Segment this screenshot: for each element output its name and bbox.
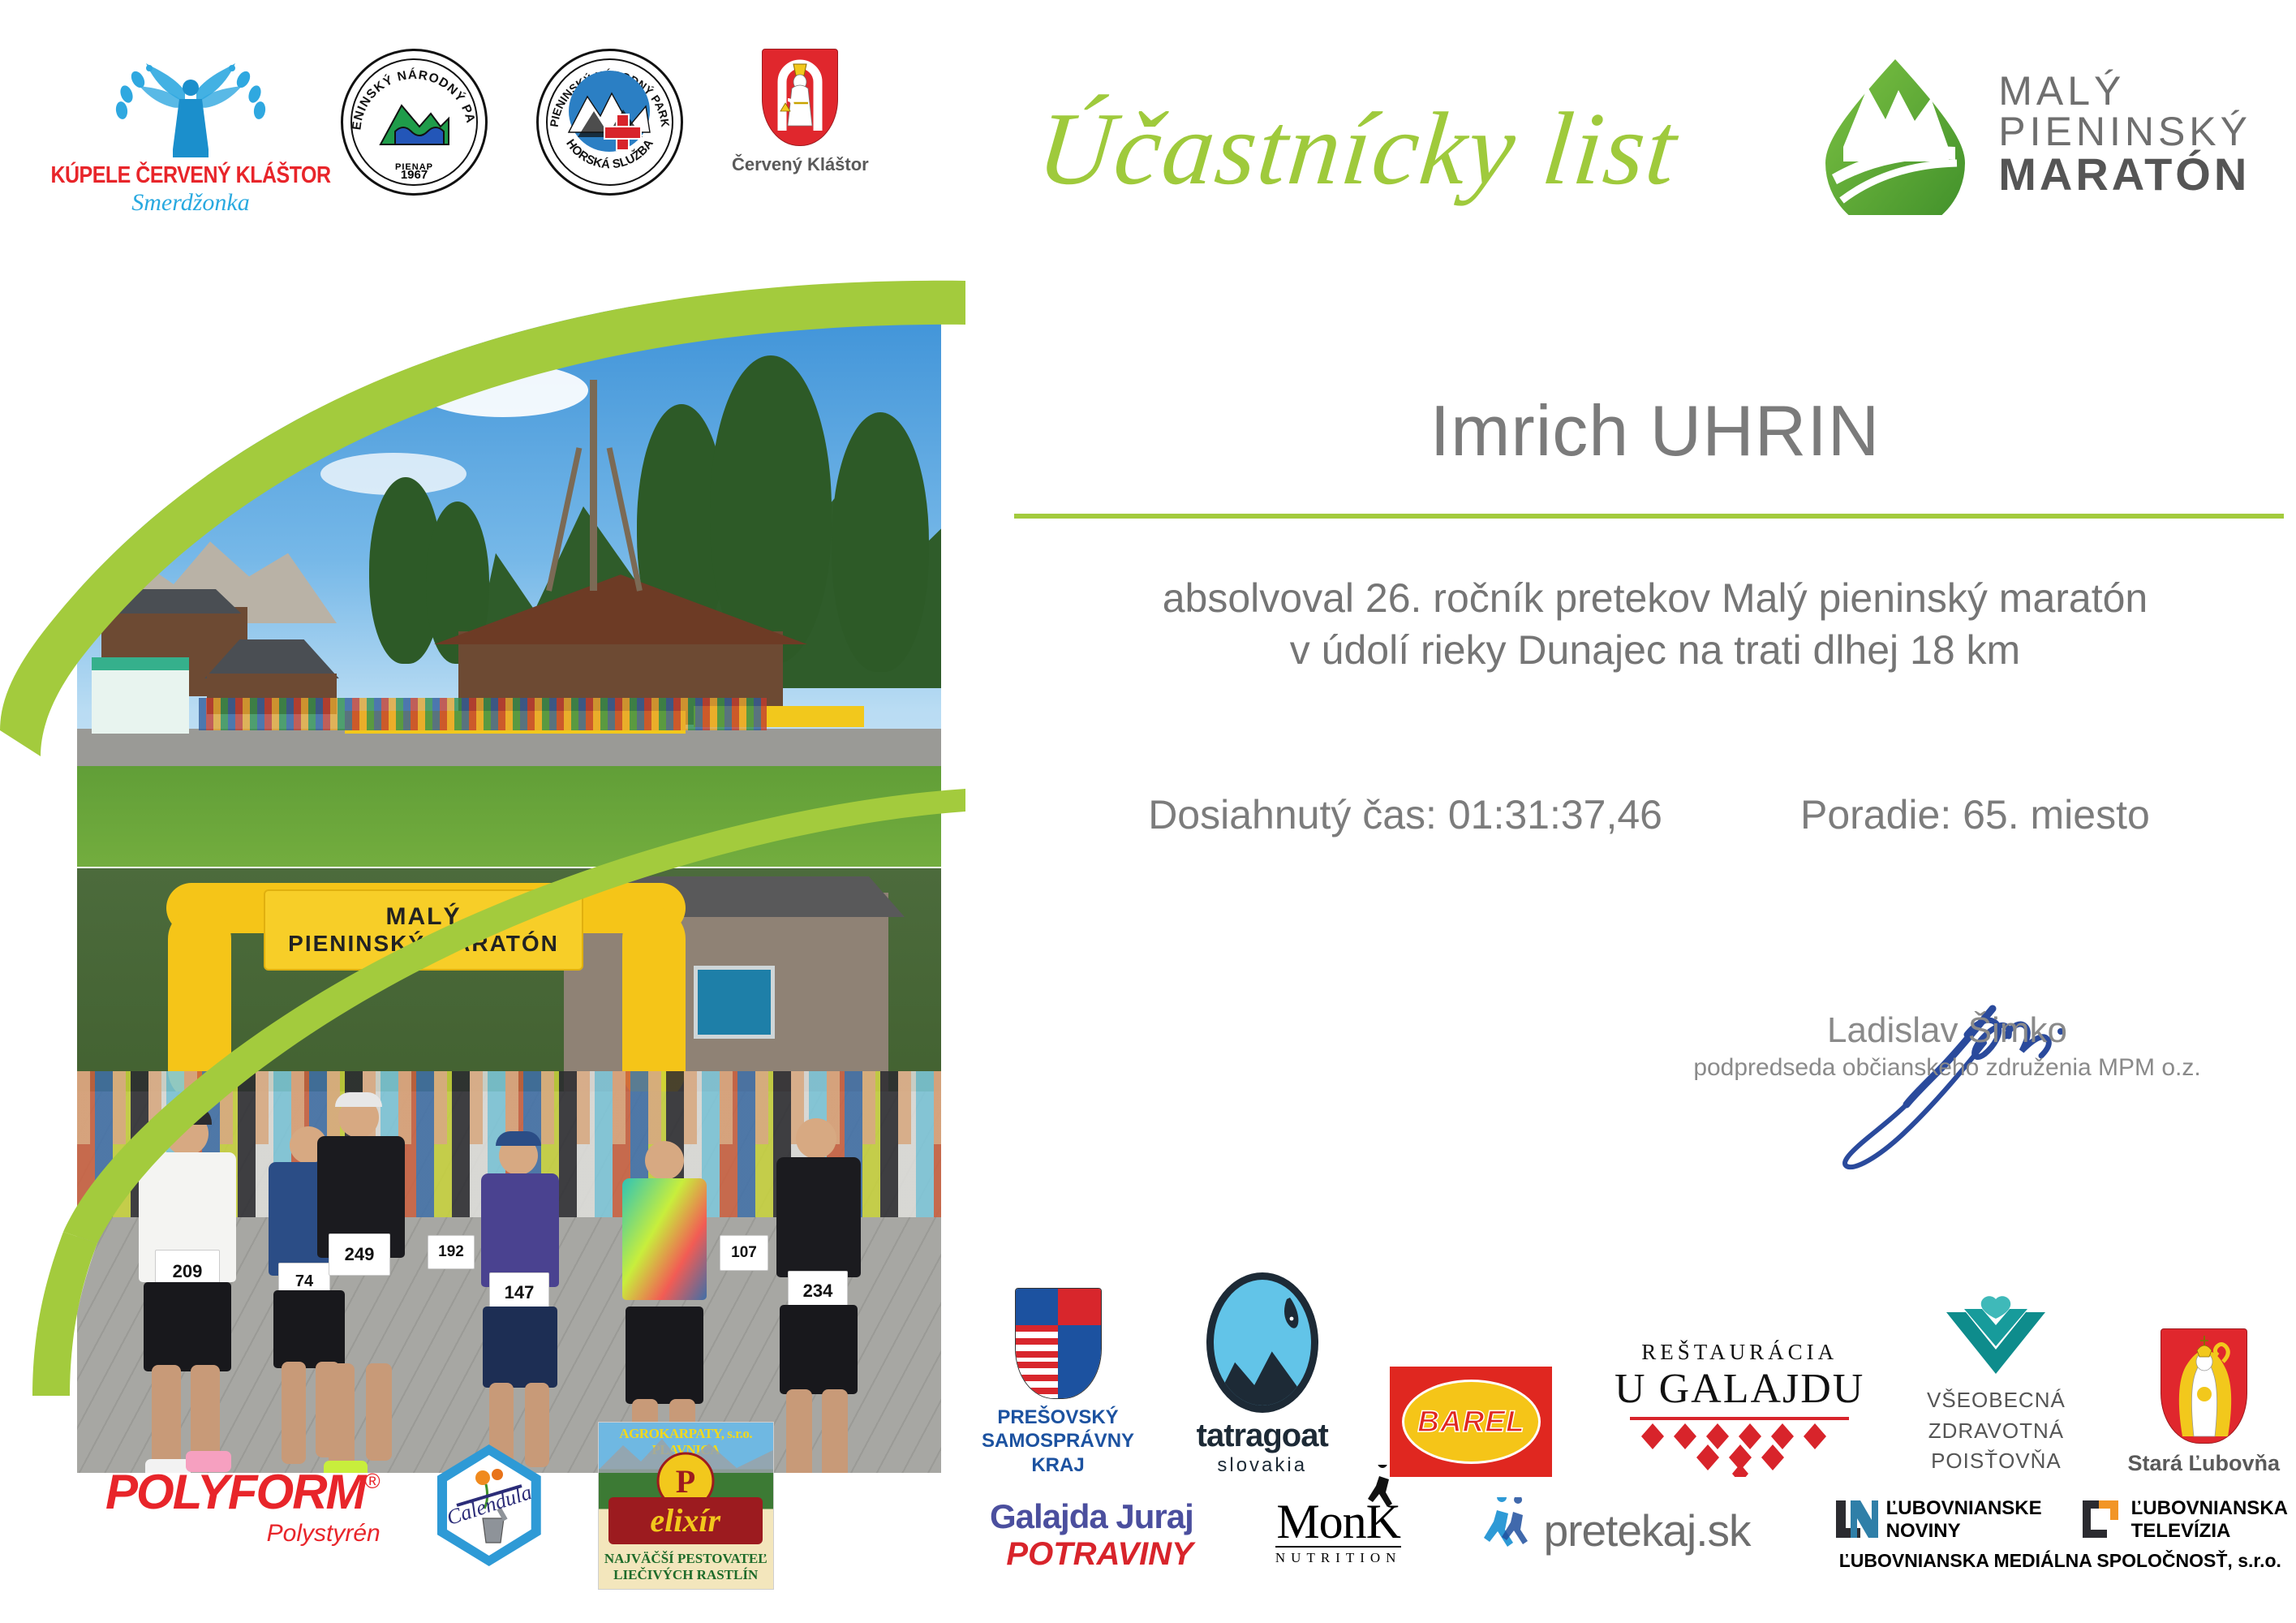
certificate-description: absolvoval 26. ročník pretekov Malý pien… [1047,572,2264,676]
sponsor-monk-nutrition: MonK NUTRITION [1275,1497,1402,1566]
page-title: Účastnícky list [1032,89,1683,209]
barel-name: BAREL [1417,1405,1524,1439]
polyform-sub: Polystyrén [105,1520,381,1548]
logo-kupele-cerveny-klastor: KÚPELE ČERVENÝ KLÁŠTOR Smerdžonka [89,49,292,217]
participant-name: Imrich UHRIN [1047,390,2264,472]
rank-label: Poradie: [1800,792,1951,837]
goat-mountain-oval-icon [1206,1272,1318,1413]
polyform-name: POLYFORM [105,1464,365,1520]
sponsor-calendula: Calendula [437,1444,541,1566]
agrokarpaty-tagline2: LIEČIVÝCH RASTLÍN [599,1567,773,1583]
certificate-page: KÚPELE ČERVENÝ KLÁŠTOR Smerdžonka PIENIN… [0,0,2296,1623]
event-logo-line2: PIENINSKÝ [1998,111,2251,152]
agrokarpaty-brand-band: elixír [608,1497,763,1544]
sponsor-row-2: Galajda Juraj POTRAVINY MonK NUTRITION p… [990,1497,2288,1611]
bishop-coat-of-arms-icon [2161,1328,2247,1444]
monk-sub: NUTRITION [1275,1546,1402,1566]
galajda-line1: Galajda Juraj [990,1497,1193,1536]
runners-icon [1484,1497,1534,1564]
leaf-mountain-icon [1821,53,1971,215]
logo-horska-sluzba: PIENINSKÝ NÁRODNÝ PARK HORSKÁ SLUŽBA [536,49,683,196]
svg-text:PIENINSKÝ NÁRODNÝ PARK: PIENINSKÝ NÁRODNÝ PARK [548,68,673,128]
event-logo: MALÝ PIENINSKÝ MARATÓN [1821,53,2251,215]
agrokarpaty-tagline1: NAJVÄČŠÍ PESTOVATEĽ [599,1551,773,1567]
sponsor-polyform: POLYFORM ® Polystyrén [105,1464,381,1548]
kupele-name: KÚPELE ČERVENÝ KLÁŠTOR [50,162,330,189]
polyform-trademark: ® [365,1469,381,1494]
signer-name: Ladislav Šimko [1639,1010,2255,1051]
finish-time-label: Dosiahnutý čas: [1148,792,1437,837]
u-galajdu-name: U GALAJDU [1615,1365,1864,1413]
psk-line2: SAMOSPRÁVNY [982,1429,1134,1453]
vzp-line1: VŠEOBECNÁ [1927,1385,2066,1416]
sponsor-row-1: PREŠOVSKÝ SAMOSPRÁVNY KRAJ tatragoat slo… [982,1233,2280,1477]
sponsor-vzp: VŠEOBECNÁ ZDRAVOTNÁ POISŤOVŇA [1927,1296,2066,1477]
svg-text:HORSKÁ SLUŽBA: HORSKÁ SLUŽBA [563,137,656,172]
description-line2: v údolí rieky Dunajec na trati dlhej 18 … [1047,624,2264,676]
ltv-logo-icon [2078,1497,2123,1541]
sponsor-pretekaj: pretekaj.sk [1484,1497,1751,1564]
vzp-line2: ZDRAVOTNÁ [1927,1416,2066,1447]
result-stats: Dosiahnutý čas: 01:31:37,46 Poradie: 65.… [1014,791,2284,838]
mortar-flower-hex-icon: Calendula [437,1444,541,1566]
galajda-line2: POTRAVINY [990,1536,1193,1573]
ln-line2: NOVINY [1886,1520,2042,1543]
psk-line3: KRAJ [982,1453,1134,1477]
sponsor-u-galajdu: REŠTAURÁCIA U GALAJDU [1615,1340,1864,1477]
divider-rule [1014,514,2284,519]
finish-time: Dosiahnutý čas: 01:31:37,46 [1148,791,1662,838]
monk-coat-of-arms-icon [762,49,838,146]
lubovnianska-media-footer: ĽUBOVNIANSKA MEDIÁLNA SPOLOČNOSŤ, s.r.o. [1839,1550,2281,1572]
sponsor-galajda-juraj: Galajda Juraj POTRAVINY [990,1497,1193,1573]
description-line1: absolvoval 26. ročník pretekov Malý pien… [1047,572,2264,624]
stara-lubovna-name: Stará Ľubovňa [2127,1450,2280,1477]
water-angel-icon [89,49,292,162]
finish-time-value: 01:31:37,46 [1448,792,1662,837]
cerveny-klastor-caption: Červený Kláštor [732,154,869,175]
rank: Poradie: 65. miesto [1800,791,2150,838]
ln-line1: ĽUBOVNIANSKE [1886,1497,2042,1520]
park-circle-icon: PIENINSKÝ NÁRODNÝ PARK PIENAP 1967 [341,49,488,196]
ltv-line2: TELEVÍZIA [2131,1520,2288,1543]
agrokarpaty-brand: elixír [650,1501,720,1539]
signature-block: Ladislav Šimko podpredseda občianskeho z… [1639,1010,2255,1082]
svg-text:P: P [676,1463,695,1500]
psk-line1: PREŠOVSKÝ [982,1406,1134,1429]
organizer-logo-bar: KÚPELE ČERVENÝ KLÁŠTOR Smerdžonka PIENIN… [89,49,949,235]
event-logo-line1: MALÝ [1998,71,2251,111]
signer-role: podpredseda občianskeho združenia MPM o.… [1639,1054,2255,1082]
pienap-year: 1967 [343,168,485,182]
u-galajdu-top: REŠTAURÁCIA [1641,1340,1838,1365]
monk-runner-icon [1358,1465,1405,1512]
vzp-heart-icon [1943,1296,2049,1385]
rank-value: 65. miesto [1963,792,2150,837]
tatragoat-name: tatragoat [1197,1418,1328,1454]
sponsor-lubovnianska-media: ĽUBOVNIANSKE NOVINY ĽUBOVNIANSKA TELEVÍZ… [1833,1497,2288,1572]
event-logo-line3: MARATÓN [1998,152,2251,197]
ltv-line1: ĽUBOVNIANSKA [2131,1497,2288,1520]
folk-ornament-icon [1638,1420,1841,1477]
vzp-line3: POISŤOVŇA [1927,1446,2066,1477]
sponsor-stara-lubovna: Stará Ľubovňa [2127,1328,2280,1477]
sponsor-tatragoat: tatragoat slovakia [1197,1272,1328,1477]
ln-logo-icon [1833,1497,1878,1541]
logo-pienap: PIENINSKÝ NÁRODNÝ PARK PIENAP 1967 [341,49,488,196]
kupele-subtitle: Smerdžonka [131,189,250,217]
sponsor-barel: BAREL [1390,1367,1552,1477]
sponsor-agrokarpaty: AGROKARPATY, s.r.o. PLAVNICA P elixír NA… [598,1422,774,1590]
mountain-rescue-circle-icon: PIENINSKÝ NÁRODNÝ PARK HORSKÁ SLUŽBA [536,49,683,196]
clover-oval-icon: BAREL [1390,1367,1552,1477]
pretekaj-name: pretekaj.sk [1544,1505,1751,1556]
sponsor-psk: PREŠOVSKÝ SAMOSPRÁVNY KRAJ [982,1288,1134,1477]
sponsor-row-left: POLYFORM ® Polystyrén [105,1408,965,1603]
tatragoat-sub: slovakia [1217,1454,1307,1477]
logo-cerveny-klastor: Červený Kláštor [732,49,869,175]
psk-coat-of-arms-icon [1015,1288,1102,1399]
